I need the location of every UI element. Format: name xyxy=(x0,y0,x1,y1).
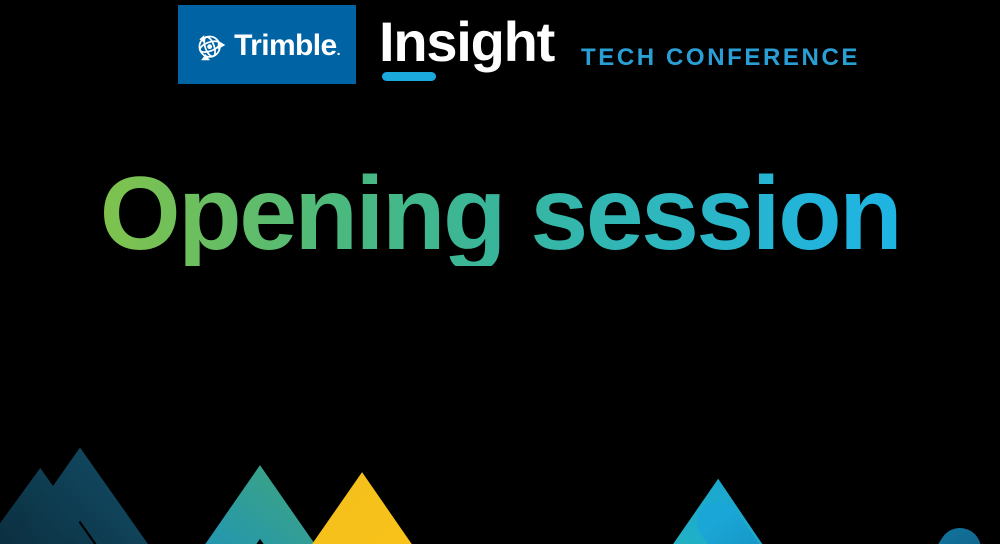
header-lockup: Trimble. Insight TECH CONFERENCE xyxy=(0,0,1000,100)
chevron-stroke-green-teal-right xyxy=(505,516,845,544)
chevron-svg xyxy=(0,284,1000,544)
trimble-logo[interactable]: Trimble. xyxy=(178,5,356,84)
trimble-wordmark-text: Trimble xyxy=(234,29,337,62)
page-title: Opening session xyxy=(0,162,1000,266)
trimble-registered-mark: . xyxy=(337,42,340,58)
tech-conference-subtitle: TECH CONFERENCE xyxy=(581,46,860,70)
insight-wordmark: Insight xyxy=(379,13,554,71)
trimble-globe-icon xyxy=(194,29,228,63)
chevron-mountain-graphic xyxy=(0,284,1000,544)
insight-product-lockup: Insight xyxy=(379,13,554,81)
insight-underline-accent xyxy=(382,72,436,81)
trimble-wordmark: Trimble. xyxy=(234,31,340,61)
